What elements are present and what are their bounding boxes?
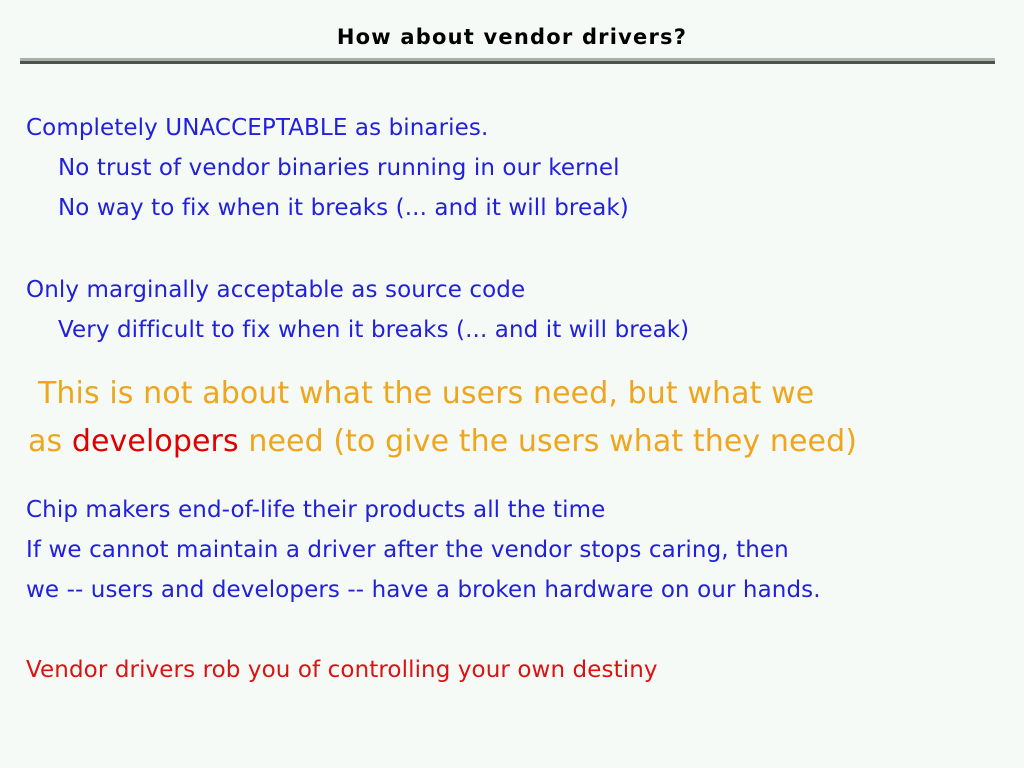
emphasis-line-2-prefix: as (28, 424, 72, 459)
emphasis-line-2-suffix: need (to give the users what they need) (239, 424, 857, 459)
page-title: How about vendor drivers? (0, 26, 1024, 49)
emphasis-callout: This is not about what the users need, b… (28, 370, 857, 466)
bullet-binaries-sub-1: No trust of vendor binaries running in o… (26, 148, 629, 188)
title-divider-rule (20, 58, 995, 64)
chip-makers-line-2: If we cannot maintain a driver after the… (26, 530, 821, 570)
divider-shadow-band (20, 61, 995, 64)
bullet-binaries-heading: Completely UNACCEPTABLE as binaries. (26, 108, 629, 148)
emphasis-line-1: This is not about what the users need, b… (28, 370, 857, 418)
emphasis-line-2: as developers need (to give the users wh… (28, 418, 857, 466)
bullet-source-sub-1: Very difficult to fix when it breaks (..… (26, 310, 689, 350)
chip-makers-line-1: Chip makers end-of-life their products a… (26, 490, 821, 530)
emphasis-highlight-developers: developers (72, 424, 239, 459)
conclusion-line-1: Vendor drivers rob you of controlling yo… (26, 652, 658, 688)
bullet-binaries-sub-2: No way to fix when it breaks (... and it… (26, 188, 629, 228)
bullet-source-heading: Only marginally acceptable as source cod… (26, 270, 689, 310)
slide-canvas: How about vendor drivers? Completely UNA… (0, 0, 1024, 768)
bullet-group-binaries: Completely UNACCEPTABLE as binaries. No … (26, 108, 629, 228)
paragraph-chip-makers: Chip makers end-of-life their products a… (26, 490, 821, 610)
bullet-group-source-code: Only marginally acceptable as source cod… (26, 270, 689, 350)
chip-makers-line-3: we -- users and developers -- have a bro… (26, 570, 821, 610)
conclusion-statement: Vendor drivers rob you of controlling yo… (26, 652, 658, 688)
